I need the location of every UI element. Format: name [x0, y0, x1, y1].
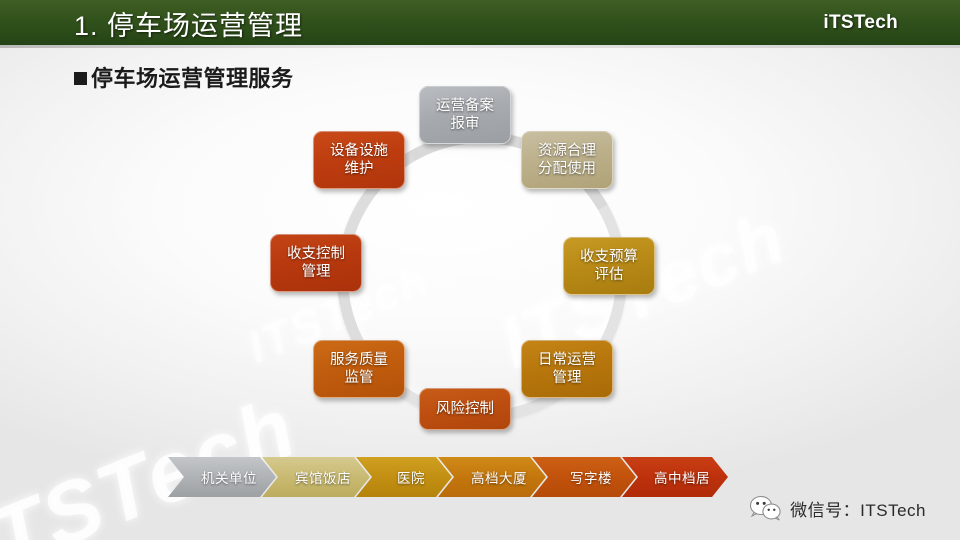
cycle-node-equipment-maintenance: 设备设施 维护: [313, 131, 405, 189]
cycle-node-service-quality: 服务质量 监管: [313, 340, 405, 398]
cycle-node-line1: 日常运营: [538, 351, 596, 369]
cycle-node-line1: 资源合理: [538, 142, 596, 160]
chevron-segment-residence: 高中档居: [622, 457, 728, 497]
cycle-node-operation-filing: 运营备案 报审: [419, 86, 511, 144]
wechat-icon: [750, 495, 781, 522]
cycle-node-line1: 风险控制: [436, 400, 494, 418]
chevron-segment-hotel: 宾馆饭店: [262, 457, 370, 497]
brand-logo: iTSTech: [823, 12, 898, 34]
chevron-segment-hospital: 医院: [356, 457, 452, 497]
segment-chevron-strip: 机关单位 宾馆饭店 医院 高档大厦 写字楼 高中档居: [168, 457, 714, 497]
footer-contact: 微信号：ITSTech: [750, 495, 926, 522]
chevron-segment-government: 机关单位: [168, 457, 276, 497]
cycle-node-line2: 管理: [553, 369, 582, 387]
section-subtitle-label: 停车场运营管理服务: [91, 66, 294, 91]
cycle-node-line2: 分配使用: [538, 160, 596, 178]
cycle-node-line2: 报审: [451, 115, 480, 133]
cycle-node-line1: 服务质量: [330, 351, 388, 369]
cycle-node-line1: 设备设施: [330, 142, 388, 160]
cycle-node-budget-evaluation: 收支预算 评估: [563, 237, 655, 295]
cycle-node-line2: 维护: [345, 160, 374, 178]
cycle-node-line2: 评估: [595, 266, 624, 284]
slide-header-bar: 1. 停车场运营管理 iTSTech: [0, 0, 960, 48]
cycle-node-line2: 监管: [345, 369, 374, 387]
cycle-node-line2: 管理: [302, 263, 331, 281]
page-title: 1. 停车场运营管理: [74, 4, 303, 43]
cycle-node-revenue-control: 收支控制 管理: [270, 234, 362, 292]
chevron-segment-highend-building: 高档大厦: [438, 457, 546, 497]
slide-canvas: ITSTech ITSTech ITSTech 1. 停车场运营管理 iTSTe…: [0, 0, 960, 540]
cycle-node-line1: 运营备案: [436, 97, 494, 115]
square-bullet-icon: [74, 72, 87, 85]
cycle-node-line1: 收支控制: [287, 245, 345, 263]
cycle-node-risk-control: 风险控制: [419, 388, 511, 430]
cycle-node-daily-operation: 日常运营 管理: [521, 340, 613, 398]
section-subtitle: 停车场运营管理服务: [74, 61, 294, 93]
chevron-segment-office: 写字楼: [532, 457, 636, 497]
cycle-node-resource-allocation: 资源合理 分配使用: [521, 131, 613, 189]
cycle-node-line1: 收支预算: [580, 248, 638, 266]
footer-wechat-id: 微信号：ITSTech: [790, 496, 926, 521]
